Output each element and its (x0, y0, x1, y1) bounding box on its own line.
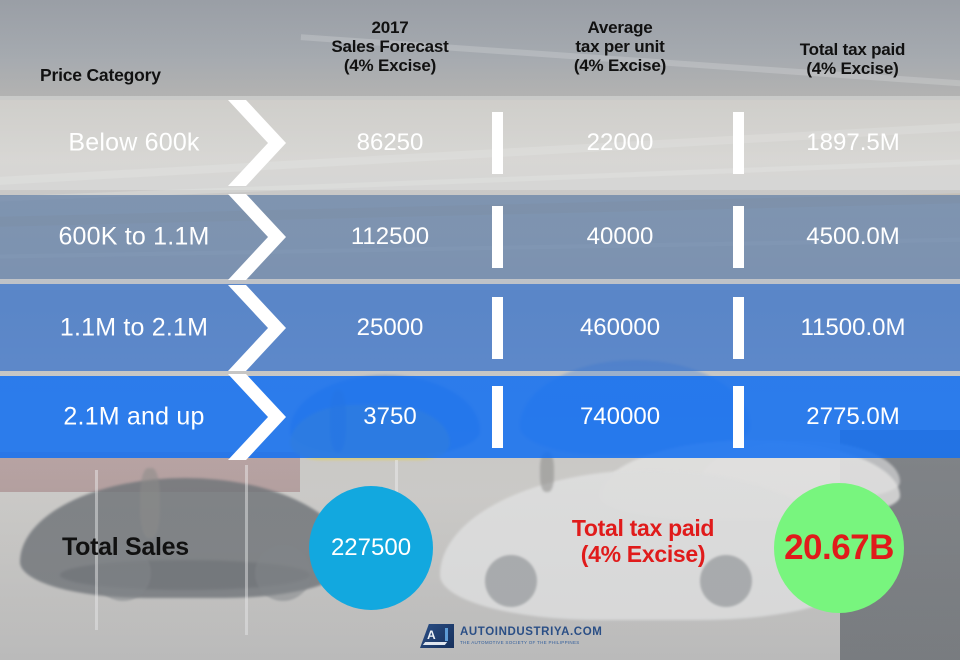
chevron-right-icon (228, 285, 286, 371)
column-divider-bar (492, 386, 503, 448)
chevron-right-icon (228, 374, 286, 460)
row-category-label: 1.1M to 2.1M (34, 313, 234, 342)
column-header-price-category: Price Category (40, 66, 205, 86)
row-total-tax-value: 2775.0M (758, 403, 948, 431)
brand-tagline: THE AUTOMOTIVE SOCIETY OF THE PHILIPPINE… (460, 641, 602, 646)
row-category-label: 2.1M and up (34, 403, 234, 432)
total-tax-paid-label-l1: Total tax paid (528, 515, 758, 541)
table-header: Price Category 2017 Sales Forecast (4% E… (0, 0, 960, 96)
row-total-tax-value: 4500.0M (758, 223, 948, 251)
column-header-sales-forecast-year: 2017 (300, 18, 480, 37)
column-header-average-tax-l2: tax per unit (530, 37, 710, 56)
column-divider-bar (492, 112, 503, 174)
column-header-average-tax-l1: Average (530, 18, 710, 37)
total-sales-value: 227500 (331, 534, 411, 562)
row-sales-forecast-value: 25000 (300, 314, 480, 342)
row-sales-forecast-value: 86250 (300, 129, 480, 157)
total-tax-paid-label-l2: (4% Excise) (528, 541, 758, 567)
column-header-average-tax-note: (4% Excise) (530, 56, 710, 75)
total-tax-paid-label: Total tax paid (4% Excise) (528, 515, 758, 568)
row-category-label: Below 600k (34, 129, 234, 158)
table-row: 1.1M to 2.1M 25000 460000 11500.0M (0, 284, 960, 371)
column-divider-bar (492, 297, 503, 359)
row-average-tax-value: 460000 (530, 314, 710, 342)
logo-slash (423, 642, 447, 645)
column-header-average-tax: Average tax per unit (4% Excise) (530, 18, 710, 75)
column-header-total-tax-note: (4% Excise) (760, 59, 945, 78)
row-average-tax-value: 740000 (530, 403, 710, 431)
logo-bar (445, 628, 448, 641)
column-header-total-tax-l1: Total tax paid (760, 40, 945, 59)
chevron-right-icon (228, 100, 286, 186)
infographic-canvas: Price Category 2017 Sales Forecast (4% E… (0, 0, 960, 660)
brand-footer: A AUTOINDUSTRIYA.COM THE AUTOMOTIVE SOCI… (420, 624, 602, 648)
total-sales-badge: 227500 (309, 486, 433, 610)
table-row: Below 600k 86250 22000 1897.5M (0, 96, 960, 190)
logo-letter: A (427, 628, 436, 642)
column-header-total-tax: Total tax paid (4% Excise) (760, 40, 945, 78)
chevron-right-icon (228, 194, 286, 280)
row-total-tax-value: 11500.0M (758, 314, 948, 342)
row-average-tax-value: 22000 (530, 129, 710, 157)
brand-text: AUTOINDUSTRIYA.COM THE AUTOMOTIVE SOCIET… (460, 627, 602, 645)
column-divider-bar (733, 297, 744, 359)
column-divider-bar (733, 112, 744, 174)
autoindustriya-logo-icon: A (420, 624, 454, 648)
brand-name: AUTOINDUSTRIYA.COM (460, 627, 602, 639)
column-header-sales-forecast: 2017 Sales Forecast (4% Excise) (300, 18, 480, 75)
row-sales-forecast-value: 112500 (300, 223, 480, 251)
column-header-sales-forecast-title: Sales Forecast (300, 37, 480, 56)
row-average-tax-value: 40000 (530, 223, 710, 251)
column-header-sales-forecast-note: (4% Excise) (300, 56, 480, 75)
total-tax-paid-value: 20.67B (784, 528, 894, 568)
row-sales-forecast-value: 3750 (300, 403, 480, 431)
total-sales-label: Total Sales (62, 533, 189, 562)
total-tax-paid-badge: 20.67B (774, 483, 904, 613)
column-divider-bar (733, 386, 744, 448)
column-divider-bar (492, 206, 503, 268)
row-category-label: 600K to 1.1M (34, 223, 234, 252)
table-row: 600K to 1.1M 112500 40000 4500.0M (0, 195, 960, 279)
column-divider-bar (733, 206, 744, 268)
table-row: 2.1M and up 3750 740000 2775.0M (0, 376, 960, 458)
row-total-tax-value: 1897.5M (758, 129, 948, 157)
